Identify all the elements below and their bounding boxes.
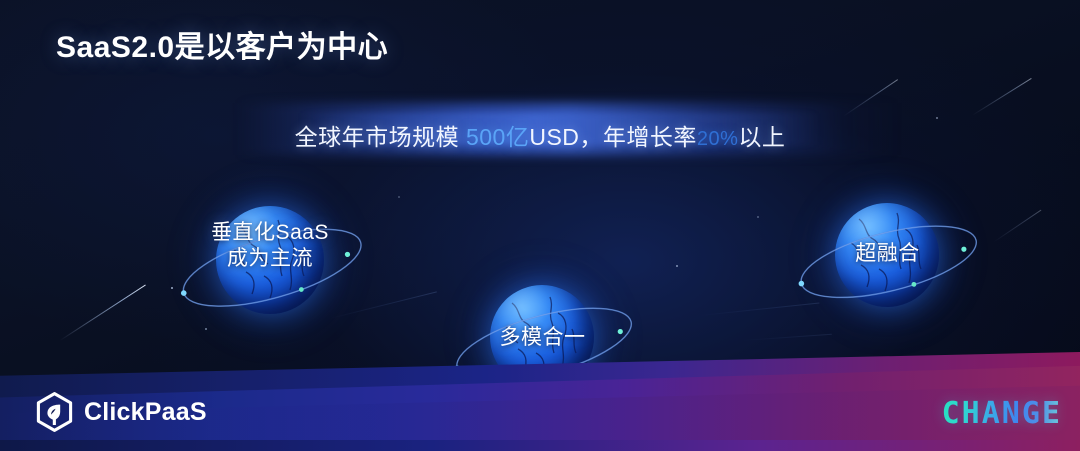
meteor-streak <box>60 285 146 341</box>
page-title: SaaS2.0是以客户为中心 <box>56 22 388 66</box>
campaign-mark: CHANGE <box>942 396 1062 431</box>
star-dot <box>676 265 678 267</box>
subtitle-mid: USD，年增长率 <box>529 124 697 150</box>
globe-orbit-ring <box>780 148 995 363</box>
hexagon-logo-icon <box>36 392 73 433</box>
slide-canvas: SaaS2.0是以客户为中心 全球年市场规模 500亿USD，年增长率20%以上 <box>0 0 1080 451</box>
globe-item-3: 超融合 <box>780 148 995 363</box>
footer-band-base <box>0 440 1080 451</box>
globe-orbit-ring <box>160 150 380 370</box>
brand-name: ClickPaaS <box>84 398 207 427</box>
subtitle-text: 全球年市场规模 500亿USD，年增长率20%以上 <box>0 118 1080 152</box>
star-dot <box>398 196 400 198</box>
subtitle-rate-highlight: 20% <box>697 128 739 150</box>
subtitle-amount-highlight: 500亿 <box>466 124 529 150</box>
subtitle-lead: 全球年市场规模 <box>295 124 466 150</box>
meteor-streak <box>993 210 1042 243</box>
globe-item-1: 垂直化SaaS 成为主流 <box>160 150 380 370</box>
subtitle-tail: 以上 <box>738 124 785 150</box>
meteor-streak <box>972 78 1032 116</box>
brand-logo[interactable]: ClickPaaS <box>36 392 207 433</box>
star-dot <box>757 216 759 218</box>
